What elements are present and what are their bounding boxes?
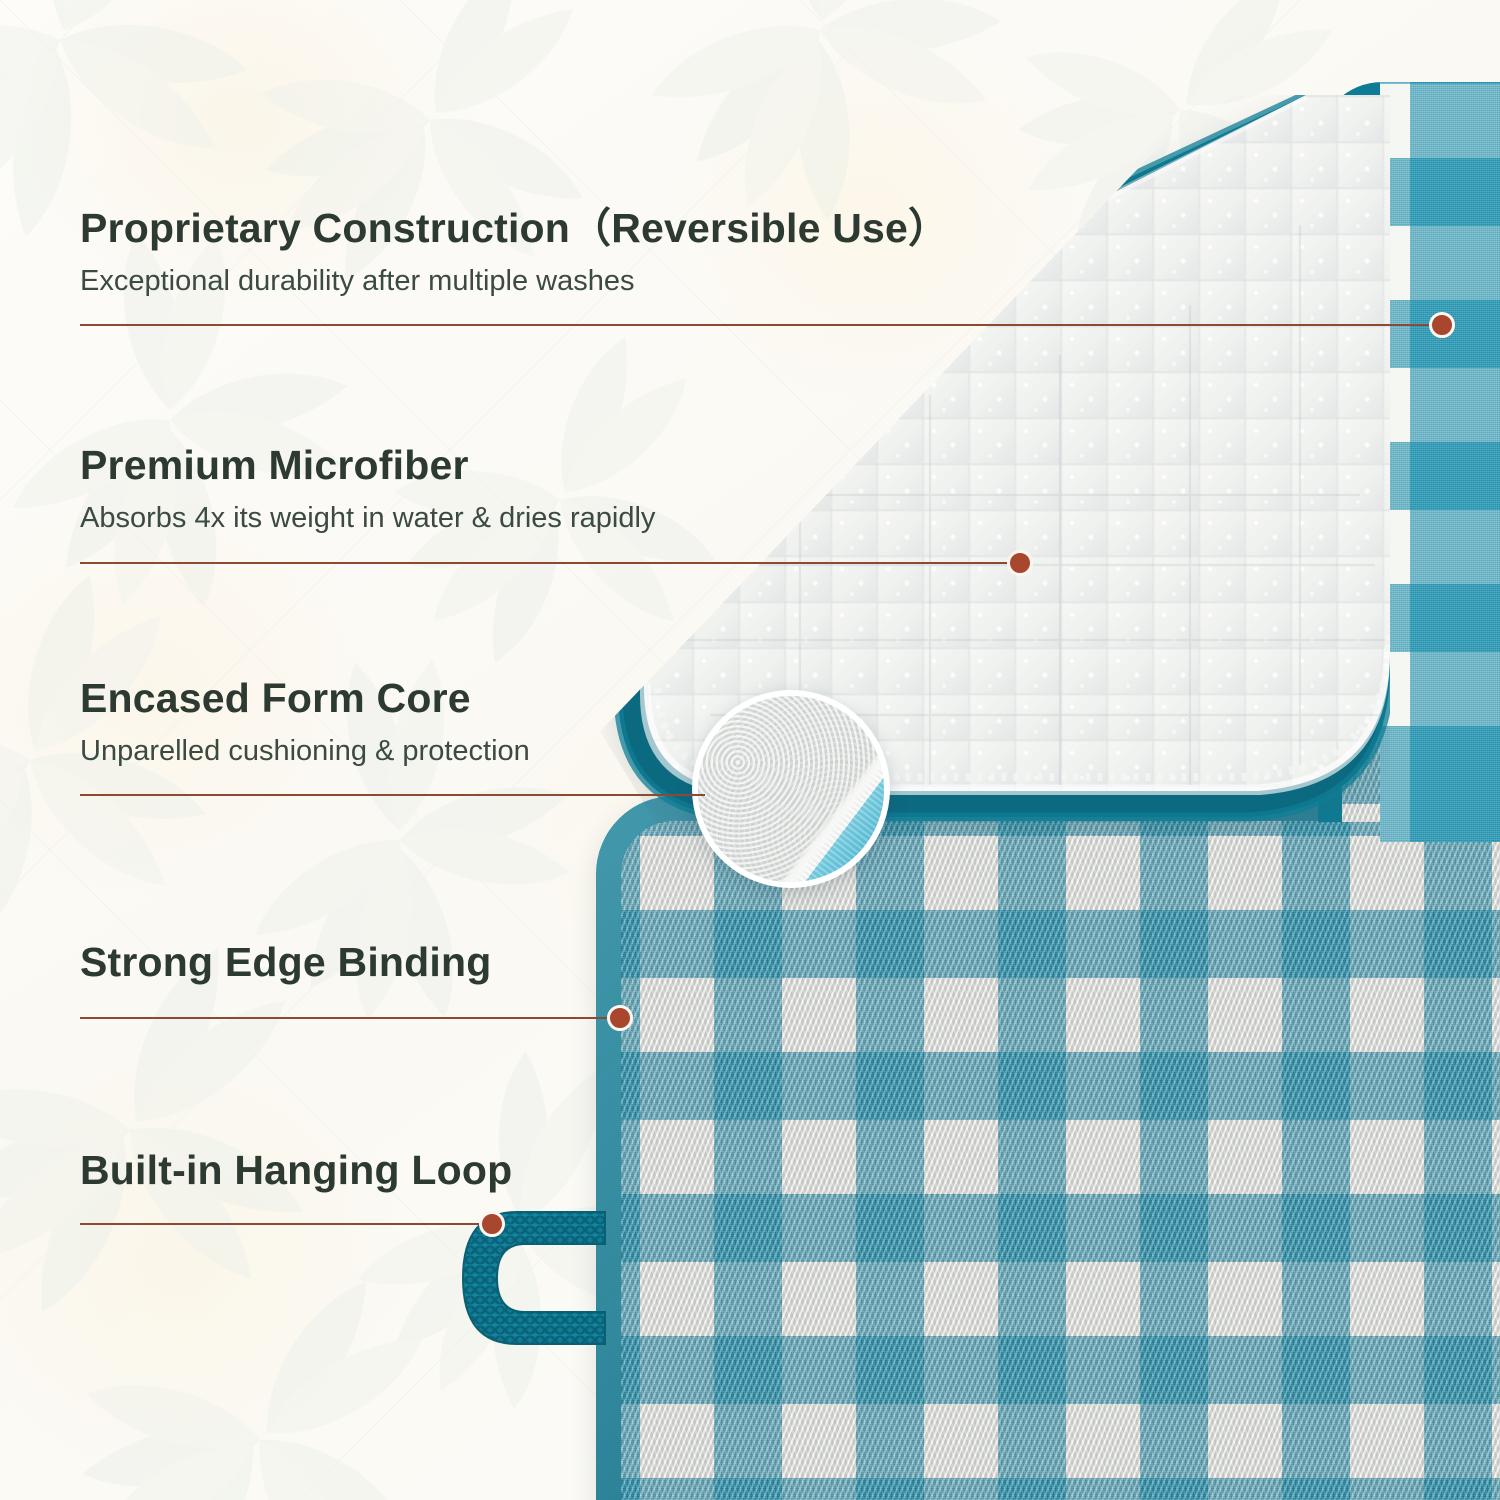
callout-title: Strong Edge Binding [80, 940, 491, 985]
callout-title: Premium Microfiber [80, 443, 655, 488]
callout-subtitle: Unparelled cushioning & protection [80, 733, 530, 769]
leader-dot-1 [1429, 312, 1455, 338]
foam-core-zoom-inset [692, 690, 890, 888]
callout-title: Built-in Hanging Loop [80, 1148, 512, 1193]
edge-binding-gingham [596, 796, 1500, 1500]
infographic-canvas: Proprietary Construction（Reversible Use）… [0, 0, 1500, 1500]
callout-encased-form-core: Encased Form Core Unparelled cushioning … [80, 676, 530, 769]
callout-premium-microfiber: Premium Microfiber Absorbs 4x its weight… [80, 443, 655, 536]
leader-line-1 [80, 324, 1442, 326]
callout-proprietary-construction: Proprietary Construction（Reversible Use）… [80, 206, 949, 299]
leader-line-2 [80, 562, 1020, 564]
callout-title: Encased Form Core [80, 676, 530, 721]
leader-dot-4 [607, 1005, 633, 1031]
leader-line-5 [80, 1223, 492, 1225]
leader-dot-2 [1007, 550, 1033, 576]
callout-strong-edge-binding: Strong Edge Binding [80, 940, 491, 985]
callout-built-in-hanging-loop: Built-in Hanging Loop [80, 1148, 512, 1193]
leader-line-3 [80, 794, 705, 796]
gingham-panel-upper-right [1380, 82, 1500, 842]
leader-line-4 [80, 1017, 620, 1019]
leader-dot-5 [479, 1211, 505, 1237]
flap-terry-face [644, 95, 1390, 791]
callout-subtitle: Exceptional durability after multiple wa… [80, 263, 949, 299]
callout-title: Proprietary Construction（Reversible Use） [80, 206, 949, 251]
callout-subtitle: Absorbs 4x its weight in water & dries r… [80, 500, 655, 536]
gingham-panel [596, 796, 1500, 1500]
